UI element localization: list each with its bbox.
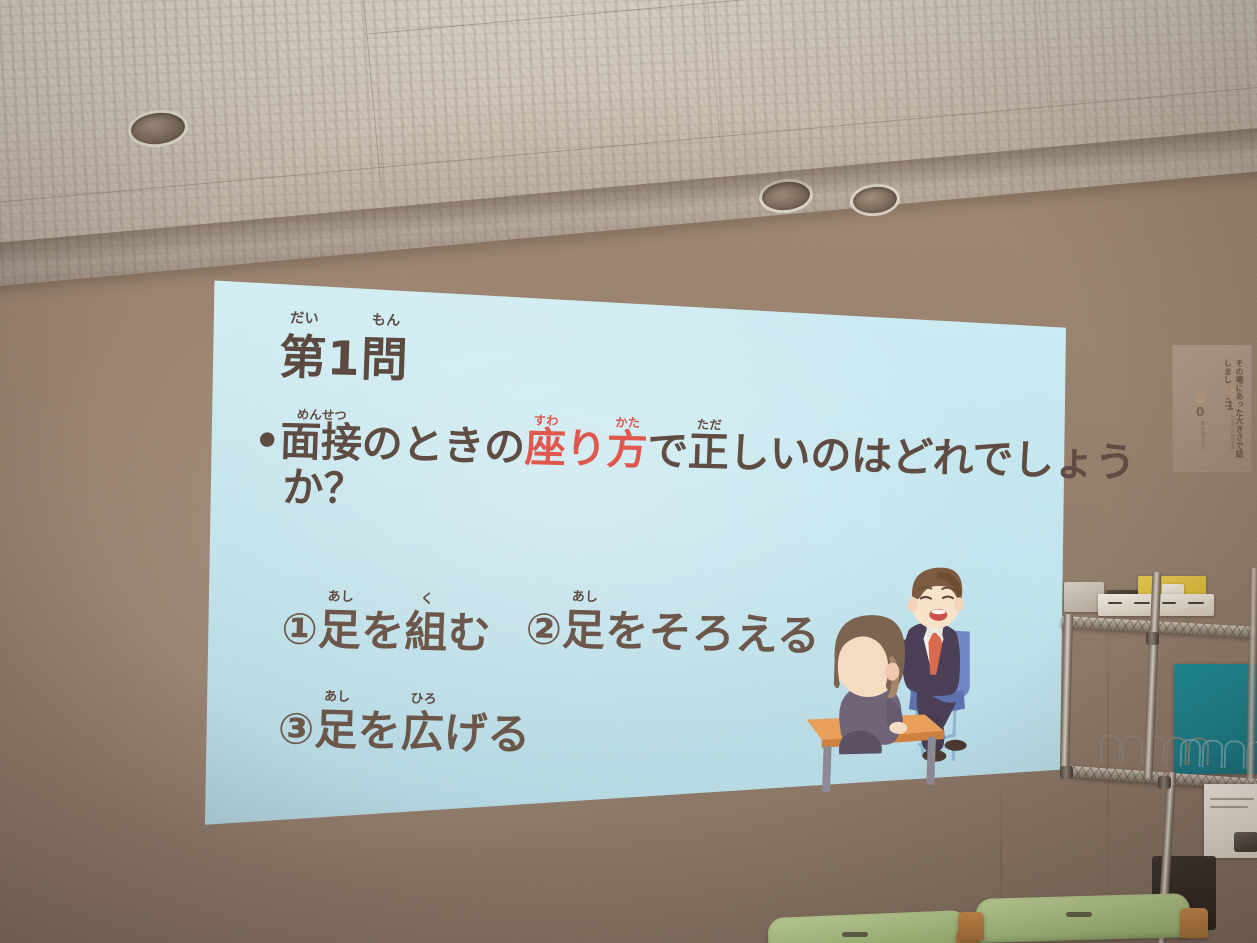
poster-figure-2 [1225,385,1236,398]
chair-handle-slot [842,932,868,937]
sign-line-1 [1210,798,1254,800]
green-chair-right[interactable] [1020,890,1250,943]
box-label-4 [1188,602,1204,604]
box-label-2 [1134,602,1150,604]
poster-caption-1: となりと話す声 [1229,415,1236,455]
rack-arc [1224,740,1246,769]
poster-figure-1 [1195,391,1206,404]
rack-arc [1180,738,1202,767]
poster-number-1: 1 [1226,399,1234,413]
wall-poster: その場にあった大きさで話しましょう!! 0 1 声を出さない となりと話す声 [1172,344,1252,472]
dish-rack-right [1180,738,1257,769]
chair-backrest [767,910,968,943]
poster-caption-0: 声を出さない [1199,421,1206,461]
projected-slide[interactable] [198,276,1066,832]
chair-backrest [975,893,1190,943]
box-label-1 [1108,602,1122,604]
rack-post-right [1246,568,1257,778]
slide-vignette [198,276,1066,832]
rack-post-left [1060,614,1073,774]
poster-number-0: 0 [1196,405,1204,419]
chair-armrest [1180,908,1208,938]
screenshot-root: だい第1もん問 •めんせつ面接のときのすわ座りかた方でただ正しいのはどれでしょう… [0,0,1257,943]
chair-handle-slot [1066,912,1092,917]
box-label-3 [1162,602,1176,604]
sign-graphic [1234,832,1257,852]
shelf-notice-sign [1204,784,1257,858]
rack-collar-3 [1060,766,1073,779]
wire-shelving-rack [1062,580,1257,943]
chair-armrest [958,912,984,940]
sign-line-2 [1210,806,1248,808]
rack-collar-1 [1146,632,1159,645]
rack-arc [1100,734,1122,763]
rack-arc [1202,739,1224,768]
rack-collar-2 [1158,776,1171,789]
rack-arc [1122,735,1144,764]
